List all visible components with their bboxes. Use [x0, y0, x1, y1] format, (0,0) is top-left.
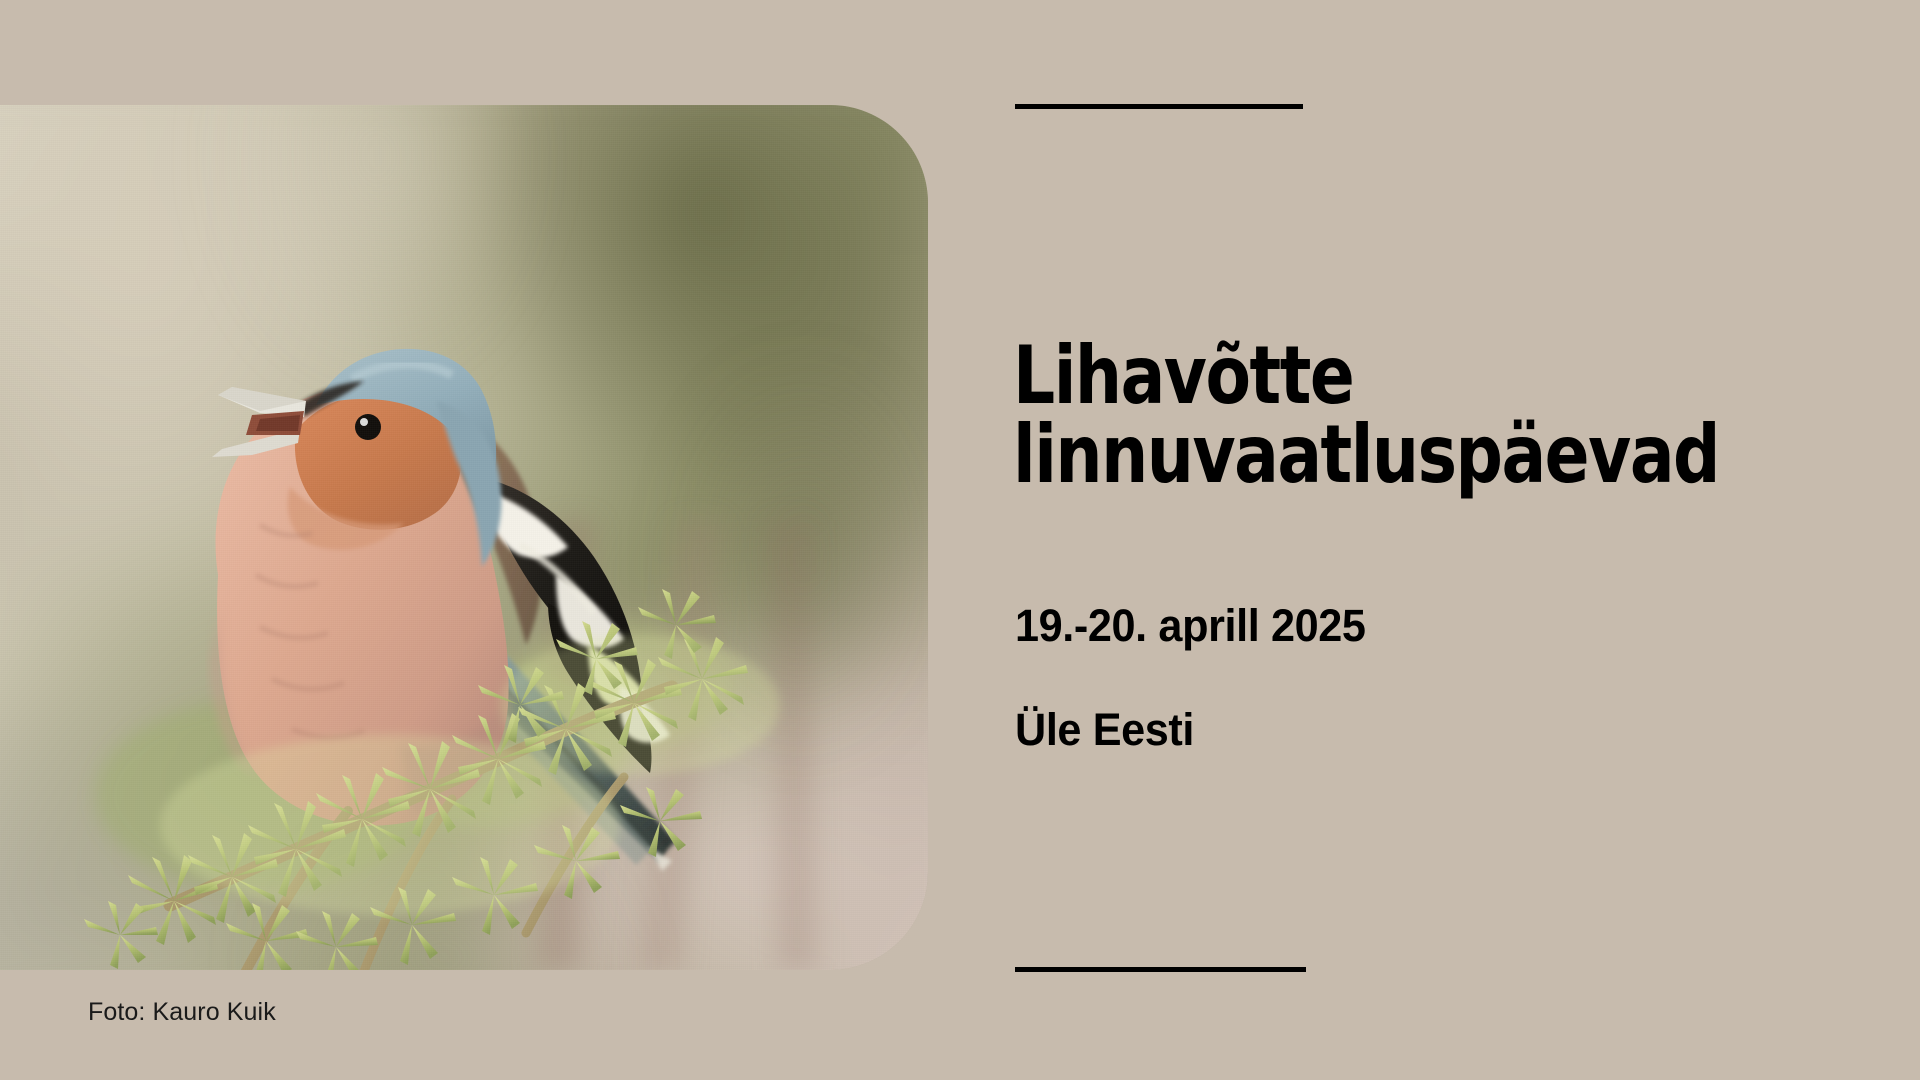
- page-title: Lihavõtte linnuvaatluspäevad: [1013, 336, 1719, 494]
- text-column: Lihavõtte linnuvaatluspäevad 19.-20. apr…: [1015, 0, 1875, 1080]
- event-date: 19.-20. aprill 2025: [1015, 600, 1366, 652]
- photo-panel: [0, 105, 928, 970]
- poster-canvas: Foto: Kauro Kuik Lihavõtte linnuvaatlusp…: [0, 0, 1920, 1080]
- photo-credit: Foto: Kauro Kuik: [88, 998, 276, 1027]
- event-location: Üle Eesti: [1015, 704, 1194, 756]
- divider-rule-bottom: [1015, 967, 1306, 972]
- photo-stage: [0, 105, 928, 970]
- divider-rule-top: [1015, 104, 1303, 109]
- photo-grain-overlay: [0, 105, 928, 970]
